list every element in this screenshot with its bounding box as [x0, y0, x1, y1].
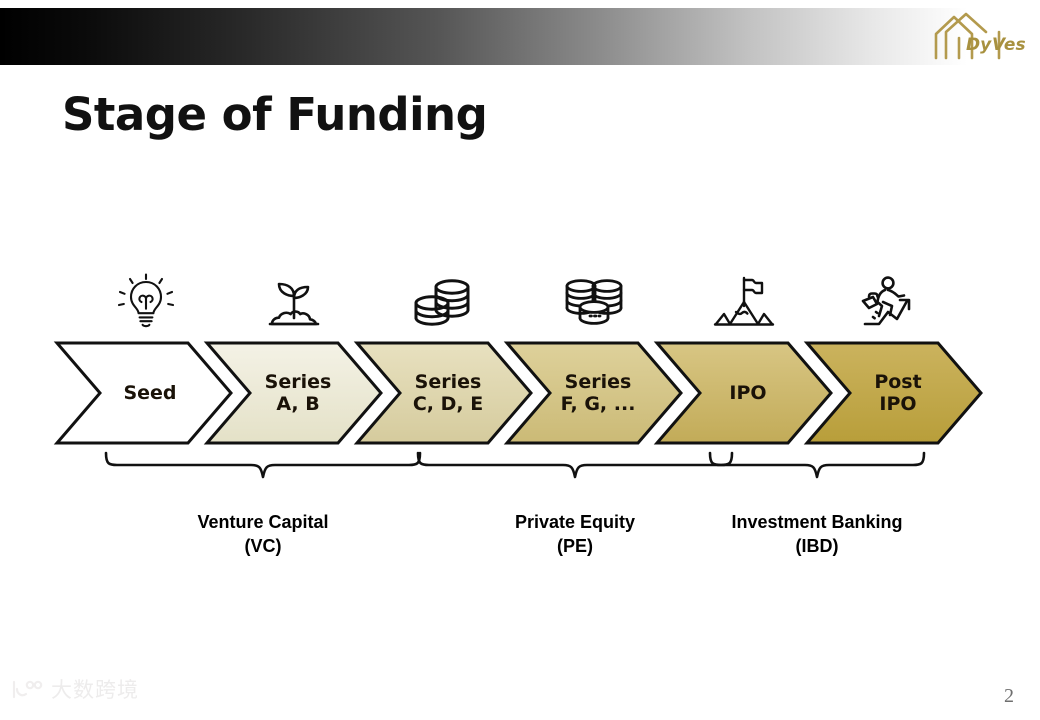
watermark-logo-icon	[10, 678, 44, 700]
coin-stacks-icon	[408, 272, 480, 332]
group-label-line2: (VC)	[103, 534, 423, 558]
page-title: Stage of Funding	[62, 88, 487, 141]
watermark: 大数跨境	[10, 674, 139, 704]
stage-label-line2: C, D, E	[413, 393, 483, 415]
stage-label-series-cde: Series C, D, E	[378, 341, 518, 445]
stage-label-line1: Series	[565, 371, 632, 393]
lightbulb-icon	[110, 272, 182, 332]
page-number: 2	[1004, 685, 1014, 708]
mountain-flag-icon	[708, 272, 780, 332]
stage-label-line2: A, B	[276, 393, 319, 415]
brace-venture-capital	[103, 450, 423, 480]
businessman-growth-icon	[852, 272, 924, 332]
watermark-text: 大数跨境	[51, 674, 139, 704]
seedling-icon	[258, 272, 330, 332]
stage-label-ipo: IPO	[678, 341, 818, 445]
coin-piles-icon	[558, 272, 630, 332]
group-label-venture-capital: Venture Capital (VC)	[103, 510, 423, 559]
stage-label-line2: IPO	[879, 393, 916, 415]
header-gradient-band	[0, 8, 1040, 65]
stage-label-line1: Series	[415, 371, 482, 393]
group-label-line2: (IBD)	[687, 534, 947, 558]
stage-label-line1: IPO	[729, 382, 766, 404]
group-label-investment-banking: Investment Banking (IBD)	[687, 510, 947, 559]
brace-private-equity	[415, 450, 735, 480]
stage-label-line1: Series	[265, 371, 332, 393]
svg-text:Dy: Dy	[966, 35, 992, 55]
group-label-line1: Investment Banking	[687, 510, 947, 534]
stage-label-series-fg: Series F, G, ...	[528, 341, 668, 445]
brace-investment-banking	[707, 450, 927, 480]
stage-label-series-ab: Series A, B	[228, 341, 368, 445]
dyvest-logo[interactable]: Dy Vest	[930, 8, 1026, 64]
stage-label-line2: F, G, ...	[561, 393, 636, 415]
stage-label-line1: Seed	[123, 382, 176, 404]
stage-label-seed: Seed	[80, 341, 220, 445]
group-label-line1: Venture Capital	[103, 510, 423, 534]
stage-label-post-ipo: Post IPO	[828, 341, 968, 445]
stage-label-line1: Post	[874, 371, 921, 393]
svg-text:Vest: Vest	[992, 35, 1026, 55]
